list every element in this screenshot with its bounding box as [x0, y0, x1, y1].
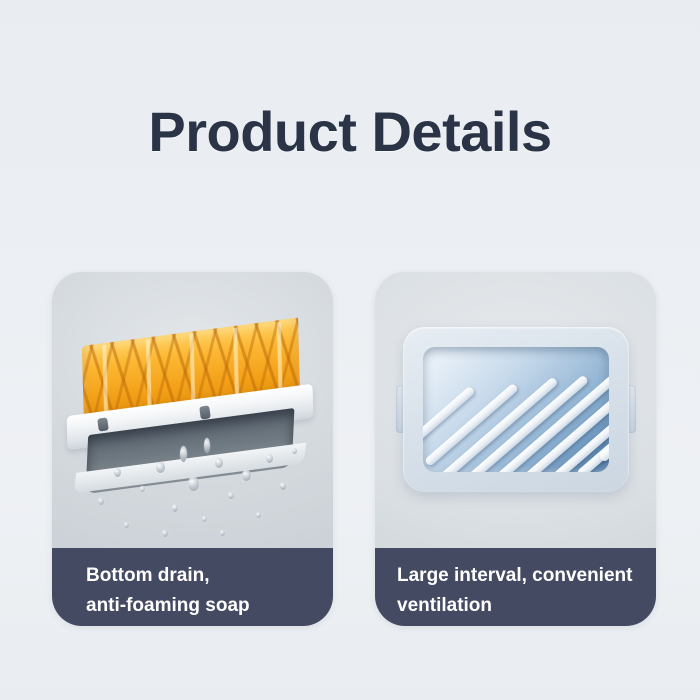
water-droplet	[172, 504, 178, 512]
caption-line: anti-foaming soap	[86, 591, 333, 621]
product-photo-large-interval	[375, 272, 656, 548]
caption-line: Large interval, convenient	[397, 561, 656, 591]
dish-side-tab	[629, 385, 636, 433]
soap-tray-draining-illustration	[52, 272, 333, 548]
tray-side-nub	[97, 417, 109, 431]
water-droplet	[114, 468, 121, 477]
card-caption-large-interval: Large interval, convenient ventilation	[375, 548, 656, 626]
water-droplet	[215, 458, 223, 468]
water-droplet	[156, 462, 165, 473]
water-droplet	[180, 446, 187, 462]
tray-side-nub	[199, 405, 211, 419]
caption-line: ventilation	[397, 591, 656, 621]
water-droplet	[220, 530, 225, 536]
detail-card-bottom-drain[interactable]: Bottom drain, anti-foaming soap	[52, 272, 333, 626]
caption-line: Bottom drain,	[86, 561, 333, 591]
water-droplet	[242, 470, 251, 481]
water-droplet	[98, 498, 104, 505]
dish-basin	[423, 347, 609, 472]
product-photo-bottom-drain	[52, 272, 333, 548]
detail-card-large-interval[interactable]: Large interval, convenient ventilation	[375, 272, 656, 626]
card-caption-bottom-drain: Bottom drain, anti-foaming soap	[52, 548, 333, 626]
water-droplet	[204, 438, 210, 453]
product-details-page: Product Details	[0, 0, 700, 700]
water-droplet	[124, 522, 129, 528]
water-droplet	[292, 448, 297, 454]
soap-dish-top-view	[403, 327, 629, 492]
page-title: Product Details	[148, 104, 551, 160]
water-droplet	[256, 512, 261, 518]
dish-side-tab	[396, 385, 403, 433]
detail-cards-row: Bottom drain, anti-foaming soap	[52, 272, 656, 626]
water-droplet	[266, 454, 273, 463]
water-droplet	[228, 492, 234, 499]
water-droplet	[280, 482, 286, 490]
water-droplet	[162, 530, 168, 537]
water-droplet	[140, 486, 145, 492]
page-title-container: Product Details	[0, 104, 700, 160]
water-droplet	[188, 477, 199, 491]
water-droplet	[202, 516, 207, 522]
